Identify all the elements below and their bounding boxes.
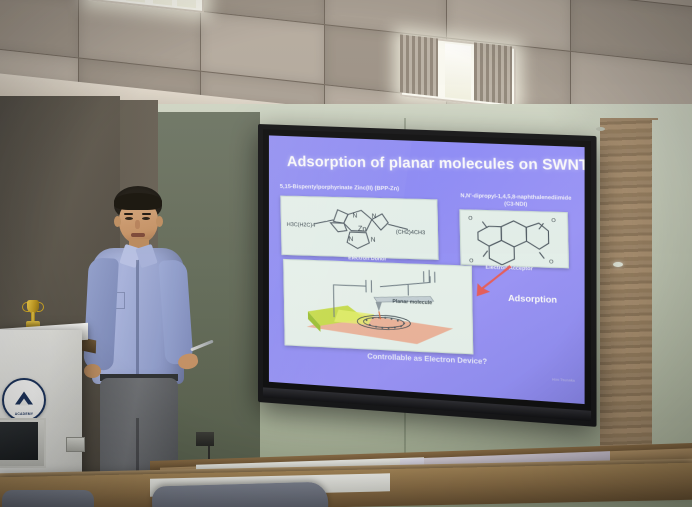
right-molecule-label: N,N'-dipropyl-1,4,5,8-naphthalenediimide…: [455, 193, 578, 210]
ndi-atom-o4: O: [549, 259, 553, 265]
institution-logo: ACADEMY: [2, 378, 46, 422]
presenter-shirt-placket: [136, 260, 139, 378]
wall-socket-center: [196, 432, 214, 446]
alkyl-chain-left: H3C(H2C)4: [287, 222, 316, 229]
slide-credit: Hiro Tsunaka: [490, 374, 574, 382]
atom-label-n4: N: [371, 236, 376, 243]
presenter-hair-fringe: [114, 193, 162, 210]
light-louver-left: [400, 34, 438, 96]
presenter-eye-left: [125, 217, 133, 220]
ndi-structure-box: O O O O: [459, 209, 569, 268]
presenter-hand-left: [84, 364, 101, 378]
wall-dot-light: [613, 262, 623, 267]
presenter-nose: [135, 220, 140, 229]
caption-adsorption: Adsorption: [487, 292, 578, 306]
lecture-hall-photo: Adsorption of planar molecules on SWNT 5…: [0, 0, 692, 507]
atom-label-n3: N: [349, 236, 354, 243]
logo-text: ACADEMY: [4, 412, 44, 416]
presenter-ear-left: [114, 216, 121, 227]
atom-label-n2: N: [372, 213, 377, 220]
wall-panel-far-right: [652, 120, 692, 460]
atom-label-n1: N: [353, 212, 358, 219]
slide-title: Adsorption of planar molecules on SWNT: [287, 153, 572, 173]
presenter-ear-right: [156, 216, 163, 227]
presenter-arm-left: [83, 257, 119, 370]
ndi-atom-o1: O: [468, 216, 472, 222]
presenter-arm-right: [158, 259, 193, 365]
left-molecule-label: 5,15-Bispentylporphyrinate Zinc(II) (BPP…: [279, 183, 440, 192]
projection-screen[interactable]: Adsorption of planar molecules on SWNT 5…: [258, 124, 597, 427]
presenter-mouth: [131, 233, 145, 237]
porphyrin-diagram: N N N N Zn H3C(H2C)4 (CH2)4CH3: [281, 196, 437, 258]
ceiling-speaker-dot: [596, 127, 605, 131]
porphyrin-structure-box: N N N N Zn H3C(H2C)4 (CH2)4CH3: [280, 195, 438, 259]
laptop-screen: [0, 422, 38, 460]
presenter-eye-right: [142, 217, 150, 220]
ndi-atom-o2: O: [551, 218, 555, 224]
presenter-brow-left: [124, 213, 133, 215]
chair-back-center[interactable]: [152, 482, 329, 507]
slide-surface: Adsorption of planar molecules on SWNT 5…: [269, 135, 585, 404]
ndi-diagram: O O O O: [460, 210, 568, 267]
atom-label-zn: Zn: [358, 224, 367, 233]
presenter-brow-right: [142, 213, 151, 215]
logo-triangle-inner: [19, 398, 29, 405]
laptop[interactable]: [0, 418, 48, 474]
chair-back-left[interactable]: [2, 490, 94, 507]
wall-socket-left: [66, 437, 85, 452]
alkyl-chain-right: (CH2)4CH3: [396, 229, 425, 236]
light-louver-right: [474, 42, 512, 104]
wood-column-right: [600, 118, 658, 448]
